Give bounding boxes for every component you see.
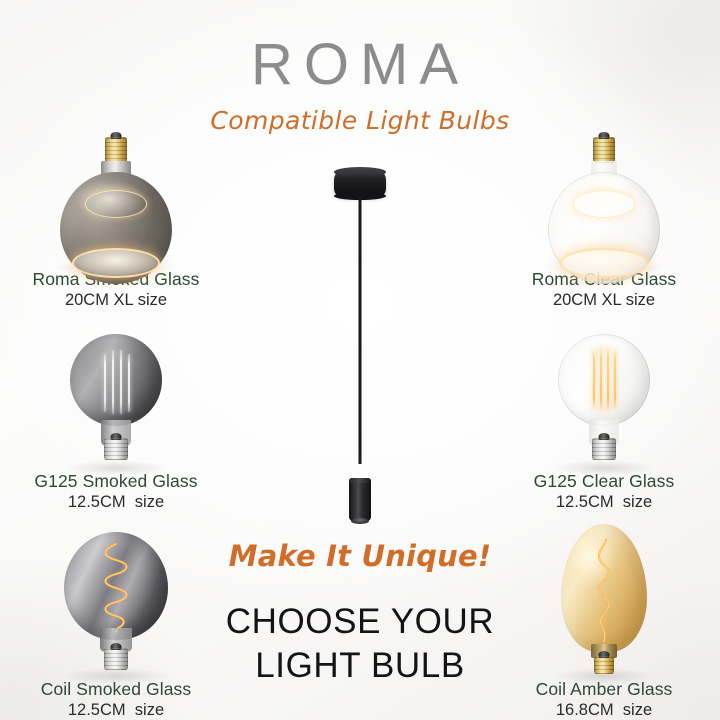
bulb-base-e27-icon — [104, 438, 128, 460]
product-size: 20CM XL size — [484, 291, 720, 311]
callout-script-text: Make It Unique! — [0, 542, 720, 571]
product-size: 12.5CM size — [0, 493, 236, 513]
pendant-cable — [359, 196, 362, 464]
filament — [112, 350, 114, 414]
callout-heading-line1: CHOOSE YOUR — [0, 604, 720, 639]
lamp-holder-icon — [349, 478, 371, 521]
bulb-base-e27-icon — [105, 137, 127, 163]
inner-glow-ring-top — [573, 190, 635, 218]
product-card-g125-clear-glass[interactable]: G125 Clear Glass 12.5CM size — [484, 328, 720, 512]
inner-glow-ring-top — [85, 190, 147, 218]
filament — [104, 354, 106, 412]
product-image-g125-smoked-glass — [0, 328, 236, 468]
globe-clear — [558, 334, 650, 426]
drop-shadow — [554, 460, 654, 476]
filament — [607, 346, 609, 412]
inner-glow-ring-bottom — [560, 248, 648, 278]
filament — [593, 348, 595, 410]
product-size: 16.8CM size — [484, 701, 720, 720]
product-size: 12.5CM size — [484, 493, 720, 513]
inner-glow-ring-bottom — [72, 248, 160, 278]
product-card-roma-smoked-glass[interactable]: Roma Smoked Glass 20CM XL size — [0, 128, 236, 310]
filament — [600, 346, 602, 412]
globe-smoked — [70, 334, 162, 426]
product-size: 12.5CM size — [0, 701, 236, 720]
filament — [128, 354, 130, 412]
product-image-g125-clear-glass — [484, 328, 720, 468]
bulb-base-e27-icon — [593, 137, 615, 163]
product-card-g125-smoked-glass[interactable]: G125 Smoked Glass 12.5CM size — [0, 328, 236, 512]
drop-shadow — [66, 460, 166, 476]
ceiling-rose-icon — [334, 171, 386, 197]
page-title: ROMA — [0, 36, 720, 94]
product-size: 20CM XL size — [0, 291, 236, 311]
product-image-roma-clear-glass — [484, 128, 720, 268]
infographic-canvas: ROMA Compatible Light Bulbs Roma Smoked … — [0, 0, 720, 720]
callout-heading-line2: LIGHT BULB — [0, 648, 720, 683]
product-card-roma-clear-glass[interactable]: Roma Clear Glass 20CM XL size — [484, 128, 720, 310]
filament — [614, 348, 616, 410]
bulb-base-e27-icon — [592, 438, 616, 460]
filament — [120, 350, 122, 414]
product-image-roma-smoked-glass — [0, 128, 236, 268]
